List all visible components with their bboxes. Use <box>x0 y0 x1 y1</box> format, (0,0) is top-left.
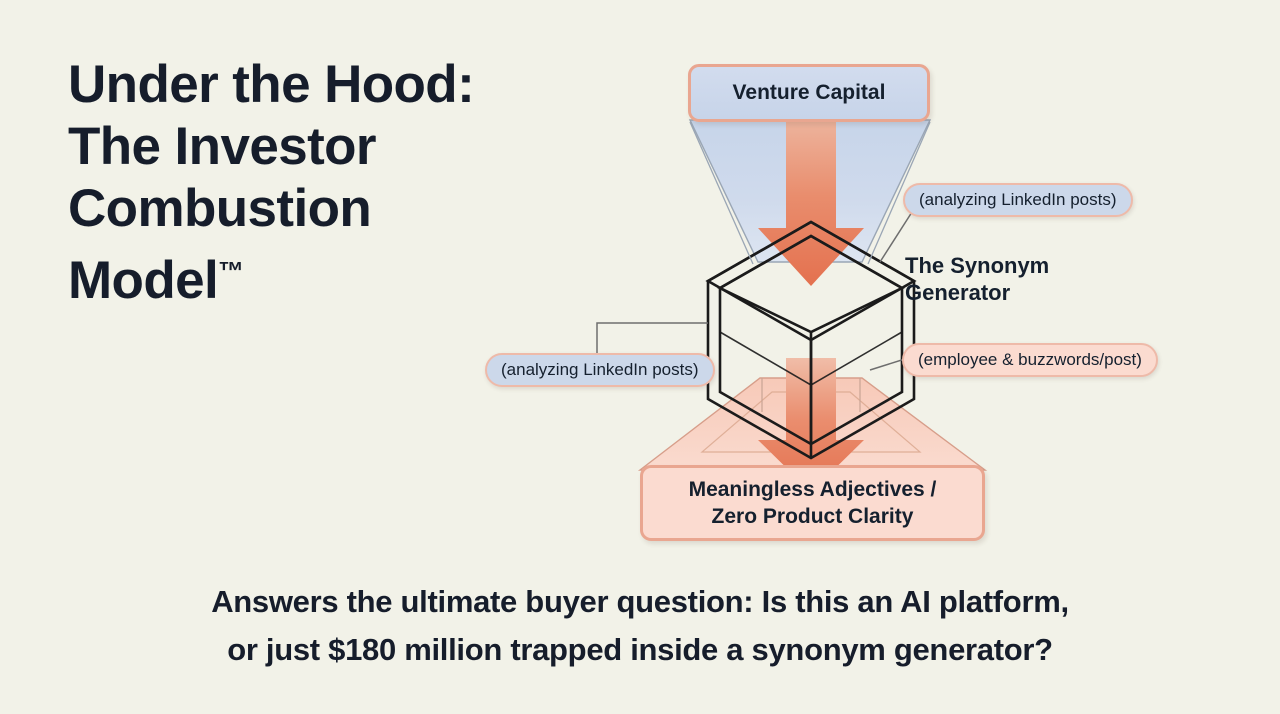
output-box-line-2: Zero Product Clarity <box>689 503 937 530</box>
annotation-pill-right-top[interactable]: (analyzing LinkedIn posts) <box>903 183 1133 217</box>
input-box-label: Venture Capital <box>733 81 886 105</box>
annotation-pill-left[interactable]: (analyzing LinkedIn posts) <box>485 353 715 387</box>
output-box-line-1: Meaningless Adjectives / <box>689 478 937 501</box>
caption: Answers the ultimate buyer question: Is … <box>0 578 1280 674</box>
slide-canvas: Under the Hood: The Investor Combustion … <box>0 0 1280 714</box>
center-label-line-2: Generator <box>905 279 1049 306</box>
title-line-4-text: Model <box>68 251 218 310</box>
annotation-pill-right-top-label: (analyzing LinkedIn posts) <box>919 190 1117 210</box>
annotation-pill-right-bottom[interactable]: (employee & buzzwords/post) <box>902 343 1158 377</box>
output-box-meaningless-adjectives[interactable]: Meaningless Adjectives / Zero Product Cl… <box>640 465 985 541</box>
output-box-text: Meaningless Adjectives / Zero Product Cl… <box>689 476 937 530</box>
input-box-venture-capital[interactable]: Venture Capital <box>688 64 930 122</box>
caption-line-1: Answers the ultimate buyer question: Is … <box>0 578 1280 626</box>
caption-line-2: or just $180 million trapped inside a sy… <box>0 626 1280 674</box>
trademark-symbol: ™ <box>218 256 244 286</box>
center-label-synonym-generator: The Synonym Generator <box>905 252 1049 306</box>
center-label-line-1: The Synonym <box>905 253 1049 278</box>
investor-combustion-diagram: Venture Capital The Synonym Generator (a… <box>450 40 1210 570</box>
annotation-pill-right-bottom-label: (employee & buzzwords/post) <box>918 350 1142 370</box>
annotation-pill-left-label: (analyzing LinkedIn posts) <box>501 360 699 380</box>
